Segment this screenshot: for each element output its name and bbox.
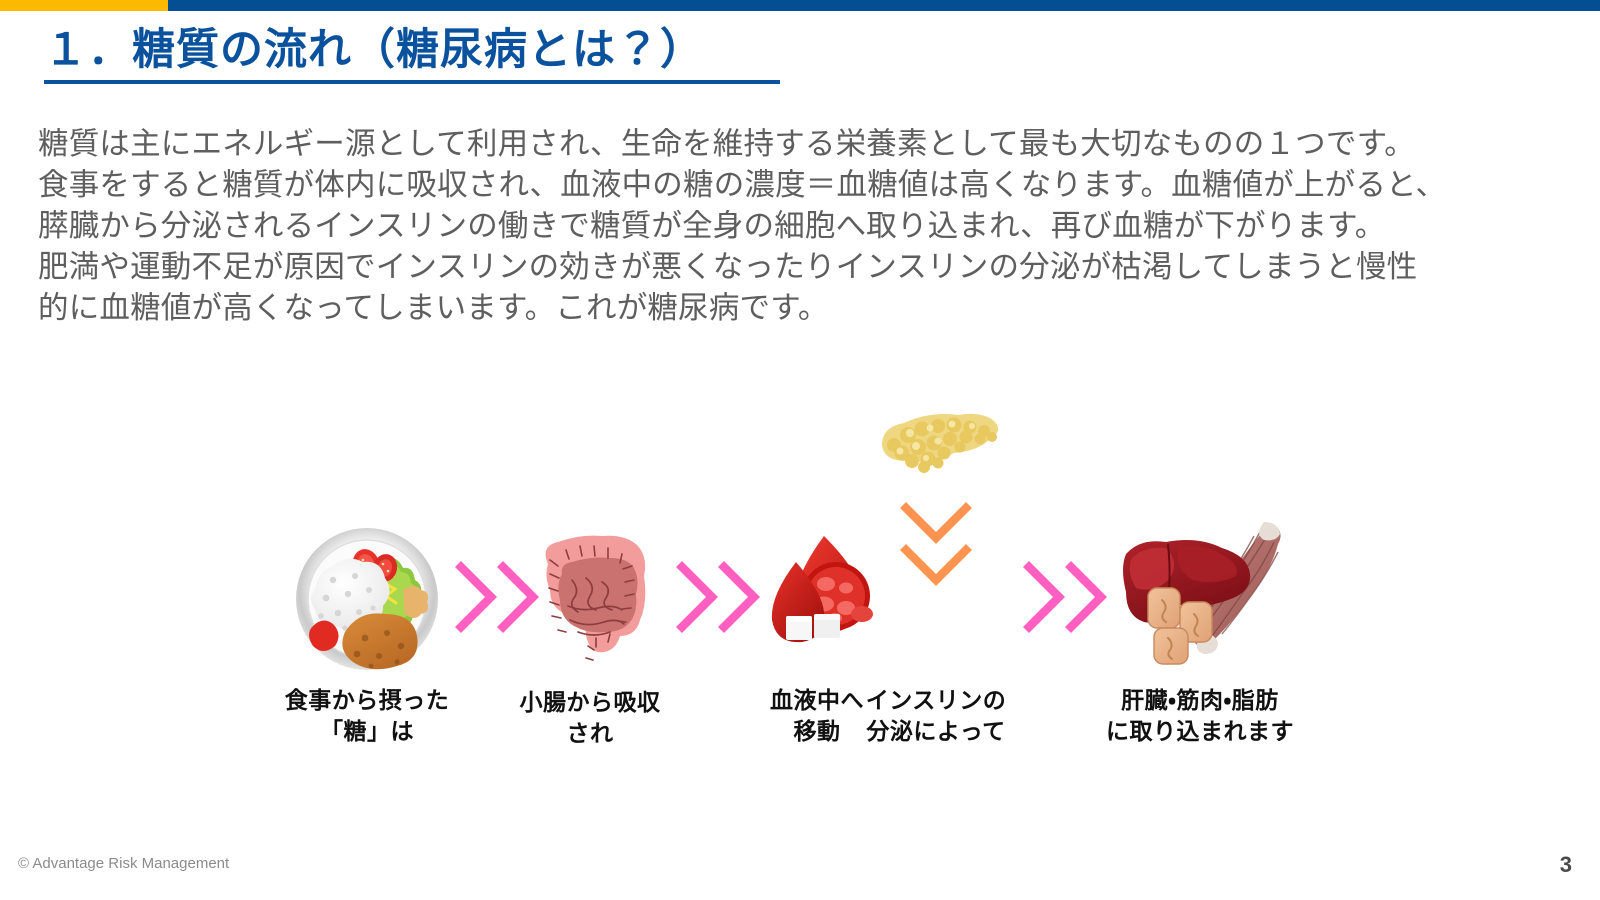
- body-paragraph: 糖質は主にエネルギー源として利用され、生命を維持する栄養素として最も大切なものの…: [38, 124, 1568, 329]
- chevron-right-icon-3: [1019, 561, 1107, 638]
- title-underline: [44, 80, 780, 84]
- copyright-notice: © Advantage Risk Management: [18, 855, 229, 872]
- liver-muscle-fat-icon: [1108, 518, 1292, 673]
- flow-step-label-uptake: 肝臓・筋肉・脂肪 に取り込まれます: [1095, 686, 1305, 748]
- flow-step-label-insulin: インスリンの 分泌によって: [836, 686, 1036, 748]
- flow-step-uptake: 肝臓・筋肉・脂肪 に取り込まれます: [1108, 518, 1292, 673]
- top-accent-bar-blue: [168, 0, 1600, 11]
- chevron-right-icon-1: [451, 561, 539, 638]
- top-accent-bar: [0, 0, 1600, 11]
- flow-step-insulin: インスリンの 分泌によって: [872, 405, 1000, 482]
- pancreas-icon: [872, 405, 1000, 482]
- flow-step-meal: 食事から摂った 「糖」は: [293, 528, 441, 676]
- slide-header: １．糖質の流れ（糖尿病とは？）: [44, 26, 1044, 84]
- chevron-down-icon: [900, 498, 972, 591]
- page-title: １．糖質の流れ（糖尿病とは？）: [44, 26, 1044, 75]
- chevron-right-icon-2: [672, 561, 760, 638]
- flow-step-blood: 血液中へ 移動: [762, 528, 874, 661]
- meal-plate-icon: [293, 528, 441, 676]
- flow-step-intestine: 小腸から吸収 され: [532, 530, 648, 677]
- carbohydrate-flow-diagram: 食事から摂った 「糖」は: [0, 380, 1600, 770]
- blood-drop-icon: [762, 528, 874, 661]
- flow-step-label-meal: 食事から摂った 「糖」は: [255, 686, 479, 748]
- small-intestine-icon: [532, 530, 648, 677]
- flow-step-label-intestine: 小腸から吸収 され: [478, 688, 702, 750]
- page-number: 3: [1560, 852, 1572, 878]
- top-accent-bar-yellow: [0, 0, 168, 11]
